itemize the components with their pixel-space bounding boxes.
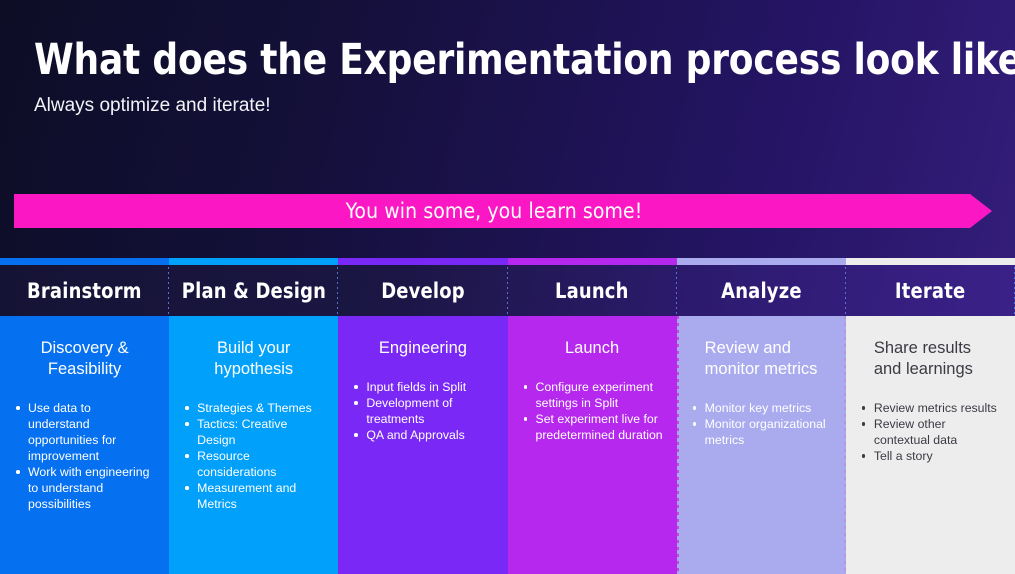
process-column: IterateShare results and learningsReview…: [846, 258, 1015, 574]
column-bullet-list: Use data to understand opportunities for…: [14, 400, 155, 512]
list-item: Monitor organizational metrics: [691, 416, 832, 448]
process-column: Plan & DesignBuild your hypothesisStrate…: [169, 258, 338, 574]
list-item: Monitor key metrics: [691, 400, 832, 416]
column-header-label: Plan & Design: [182, 279, 326, 303]
column-bullet-list: Monitor key metricsMonitor organizationa…: [691, 400, 832, 448]
process-column: BrainstormDiscovery & FeasibilityUse dat…: [0, 258, 169, 574]
column-bullet-list: Strategies & ThemesTactics: Creative Des…: [183, 400, 324, 512]
column-accent-strip: [169, 258, 338, 265]
list-item: Resource considerations: [183, 448, 324, 480]
column-subtitle: Build your hypothesis: [183, 338, 324, 380]
arrow-banner-label: You win some, you learn some!: [346, 199, 643, 223]
column-bullet-list: Review metrics resultsReview other conte…: [860, 400, 1001, 464]
list-item: Measurement and Metrics: [183, 480, 324, 512]
list-item: Review metrics results: [860, 400, 1001, 416]
list-item: Work with engineering to understand poss…: [14, 464, 155, 512]
column-body: Share results and learningsReview metric…: [846, 316, 1015, 574]
list-item: Tell a story: [860, 448, 1001, 464]
column-bullet-list: Configure experiment settings in SplitSe…: [522, 379, 663, 443]
column-subtitle: Discovery & Feasibility: [14, 338, 155, 380]
process-column: AnalyzeReview and monitor metricsMonitor…: [677, 258, 846, 574]
page-subtitle: Always optimize and iterate!: [34, 93, 271, 119]
column-accent-strip: [677, 258, 846, 265]
process-column: LaunchLaunchConfigure experiment setting…: [508, 258, 677, 574]
list-item: Input fields in Split: [352, 379, 493, 395]
column-header[interactable]: Plan & Design: [169, 265, 338, 316]
column-accent-strip: [338, 258, 507, 265]
list-item: Set experiment live for predetermined du…: [522, 411, 663, 443]
list-item: Development of treatments: [352, 395, 493, 427]
column-accent-strip: [0, 258, 169, 265]
column-body: Review and monitor metricsMonitor key me…: [677, 316, 846, 574]
column-header-label: Brainstorm: [27, 279, 142, 303]
process-columns: BrainstormDiscovery & FeasibilityUse dat…: [0, 258, 1015, 574]
column-header-label: Launch: [555, 279, 629, 303]
list-item: Configure experiment settings in Split: [522, 379, 663, 411]
list-item: QA and Approvals: [352, 427, 493, 443]
list-item: Strategies & Themes: [183, 400, 324, 416]
column-bullet-list: Input fields in SplitDevelopment of trea…: [352, 379, 493, 443]
column-body: LaunchConfigure experiment settings in S…: [508, 316, 677, 574]
column-body: Build your hypothesisStrategies & Themes…: [169, 316, 338, 574]
column-header[interactable]: Launch: [508, 265, 677, 316]
column-header[interactable]: Iterate: [846, 265, 1015, 316]
column-subtitle: Engineering: [352, 338, 493, 359]
column-header[interactable]: Develop: [338, 265, 507, 316]
column-subtitle: Review and monitor metrics: [691, 338, 832, 380]
column-accent-strip: [846, 258, 1015, 265]
process-column: DevelopEngineeringInput fields in SplitD…: [338, 258, 507, 574]
slide-canvas: What does the Experimentation process lo…: [0, 0, 1015, 574]
arrow-banner: You win some, you learn some!: [14, 194, 992, 228]
page-title: What does the Experimentation process lo…: [34, 34, 1015, 86]
column-subtitle: Launch: [522, 338, 663, 359]
column-header[interactable]: Analyze: [677, 265, 846, 316]
list-item: Tactics: Creative Design: [183, 416, 324, 448]
list-item: Review other contextual data: [860, 416, 1001, 448]
column-header-label: Iterate: [895, 279, 965, 303]
list-item: Use data to understand opportunities for…: [14, 400, 155, 464]
column-body: EngineeringInput fields in SplitDevelopm…: [338, 316, 507, 574]
column-header[interactable]: Brainstorm: [0, 265, 169, 316]
column-subtitle: Share results and learnings: [860, 338, 1001, 380]
column-accent-strip: [508, 258, 677, 265]
column-header-label: Develop: [381, 279, 465, 303]
column-body: Discovery & FeasibilityUse data to under…: [0, 316, 169, 574]
column-header-label: Analyze: [721, 279, 802, 303]
